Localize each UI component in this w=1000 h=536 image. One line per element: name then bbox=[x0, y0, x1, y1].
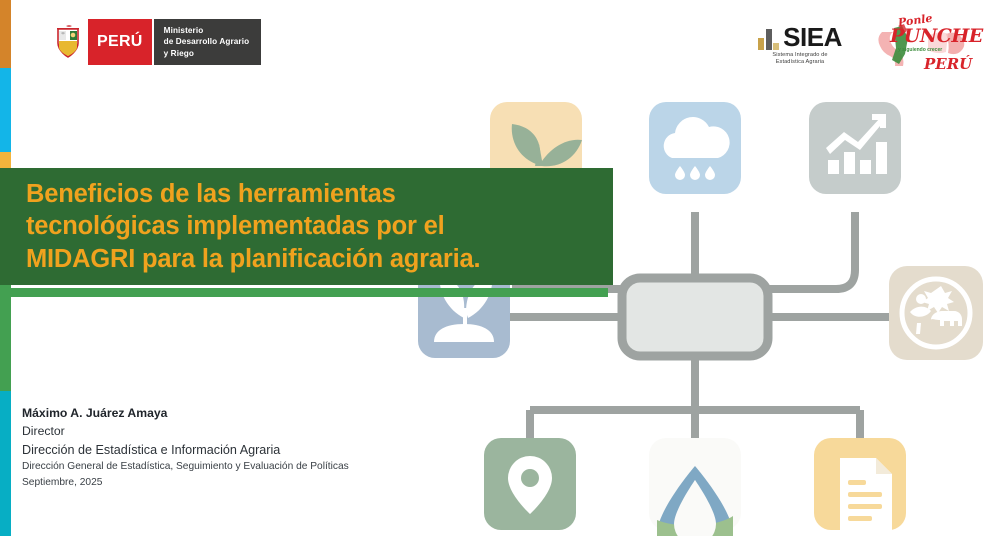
ministry-name-block: Ministerio de Desarrollo Agrario y Riego bbox=[152, 19, 262, 65]
slide-title-line-1: Beneficios de las herramientas bbox=[26, 178, 480, 210]
tile-document-report bbox=[814, 438, 906, 530]
speaker-direction: Dirección de Estadística e Información A… bbox=[22, 441, 349, 460]
punche-slogan: y siguiendo crecer bbox=[898, 47, 942, 53]
ministry-line-1: Ministerio bbox=[164, 25, 250, 36]
ponle-punche-peru-logo: Ponle PUNCHE y siguiendo crecer PERÚ bbox=[868, 12, 976, 76]
ministry-line-3: y Riego bbox=[164, 48, 250, 59]
tile-agriculture-emblem bbox=[889, 266, 983, 360]
siea-subtitle: Sistema Integrado de Estadística Agraria bbox=[748, 52, 852, 67]
tile-location-map bbox=[484, 438, 576, 530]
infographic-diagram bbox=[400, 80, 1000, 536]
punche-word-bottom: PERÚ bbox=[924, 55, 972, 73]
presentation-slide: PERÚ Ministerio de Desarrollo Agrario y … bbox=[0, 0, 1000, 536]
central-hub-node bbox=[622, 278, 768, 356]
speaker-general-direction: Dirección General de Estadística, Seguim… bbox=[22, 459, 349, 475]
document-lines-icon bbox=[840, 458, 892, 530]
peru-wordmark: PERÚ bbox=[88, 19, 152, 65]
tile-water-resource bbox=[649, 438, 741, 536]
slide-title-banner: Beneficios de las herramientas tecnológi… bbox=[0, 168, 613, 285]
speaker-info-block: Máximo A. Juárez Amaya Director Direcció… bbox=[22, 404, 349, 491]
siea-subtitle-line-1: Sistema Integrado de bbox=[748, 52, 852, 59]
speaker-role: Director bbox=[22, 422, 349, 440]
siea-logo: SIEA Sistema Integrado de Estadística Ag… bbox=[748, 20, 852, 67]
slide-header: PERÚ Ministerio de Desarrollo Agrario y … bbox=[0, 0, 1000, 92]
accent-bar-teal bbox=[0, 391, 11, 536]
slide-title-line-3: MIDAGRI para la planificación agraria. bbox=[26, 243, 480, 275]
punche-word-main: PUNCHE bbox=[890, 25, 983, 47]
slide-title-line-2: tecnológicas implementadas por el bbox=[26, 210, 480, 242]
siea-bars-icon bbox=[758, 29, 779, 50]
tile-growth-chart bbox=[809, 102, 901, 194]
siea-wordmark: SIEA bbox=[783, 24, 842, 50]
accent-bar-green bbox=[0, 285, 11, 391]
title-underline-bar bbox=[0, 288, 608, 297]
siea-subtitle-line-2: Estadística Agraria bbox=[748, 59, 852, 66]
speaker-name: Máximo A. Juárez Amaya bbox=[22, 404, 349, 422]
slide-title: Beneficios de las herramientas tecnológi… bbox=[0, 178, 492, 275]
peru-coat-of-arms-icon bbox=[48, 19, 88, 65]
tile-rain-cloud bbox=[649, 102, 741, 194]
ministry-line-2: de Desarrollo Agrario bbox=[164, 36, 250, 47]
siea-wordmark-row: SIEA bbox=[748, 20, 852, 50]
presentation-date: Septiembre, 2025 bbox=[22, 475, 349, 491]
midagri-logo: PERÚ Ministerio de Desarrollo Agrario y … bbox=[48, 19, 261, 65]
accent-bar-amber bbox=[0, 152, 11, 169]
